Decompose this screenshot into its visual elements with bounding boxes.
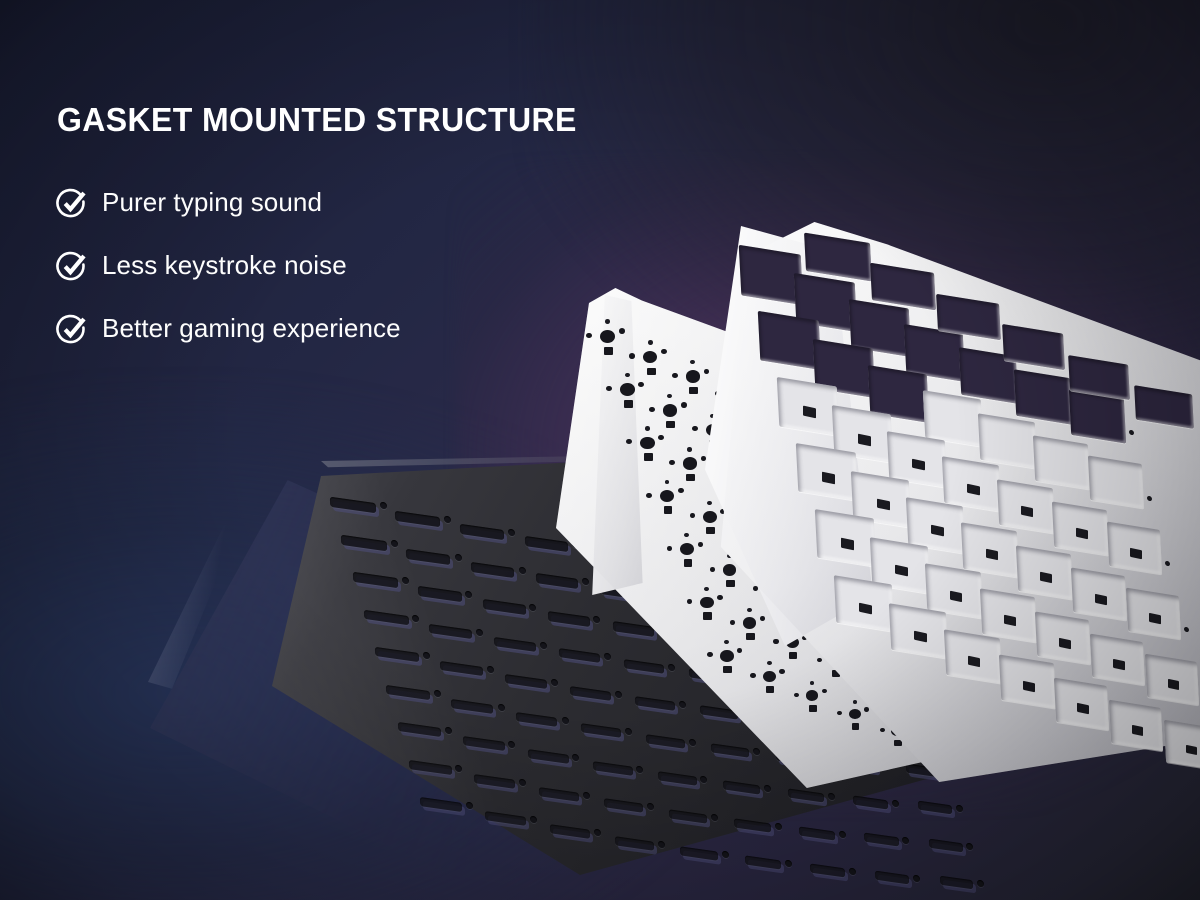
feature-banner: GASKET MOUNTED STRUCTURE Purer typing so… — [0, 0, 1200, 900]
check-circle-icon — [55, 249, 89, 283]
check-circle-icon — [55, 186, 89, 220]
list-item: Better gaming experience — [55, 306, 401, 351]
feature-list: Purer typing sound Less keystroke noise … — [55, 180, 401, 369]
list-item: Less keystroke noise — [55, 243, 401, 288]
page-title: GASKET MOUNTED STRUCTURE — [57, 101, 577, 139]
list-item: Purer typing sound — [55, 180, 401, 225]
check-circle-icon — [55, 312, 89, 346]
list-item-label: Purer typing sound — [102, 187, 322, 218]
list-item-label: Less keystroke noise — [102, 250, 347, 281]
list-item-label: Better gaming experience — [102, 313, 401, 344]
